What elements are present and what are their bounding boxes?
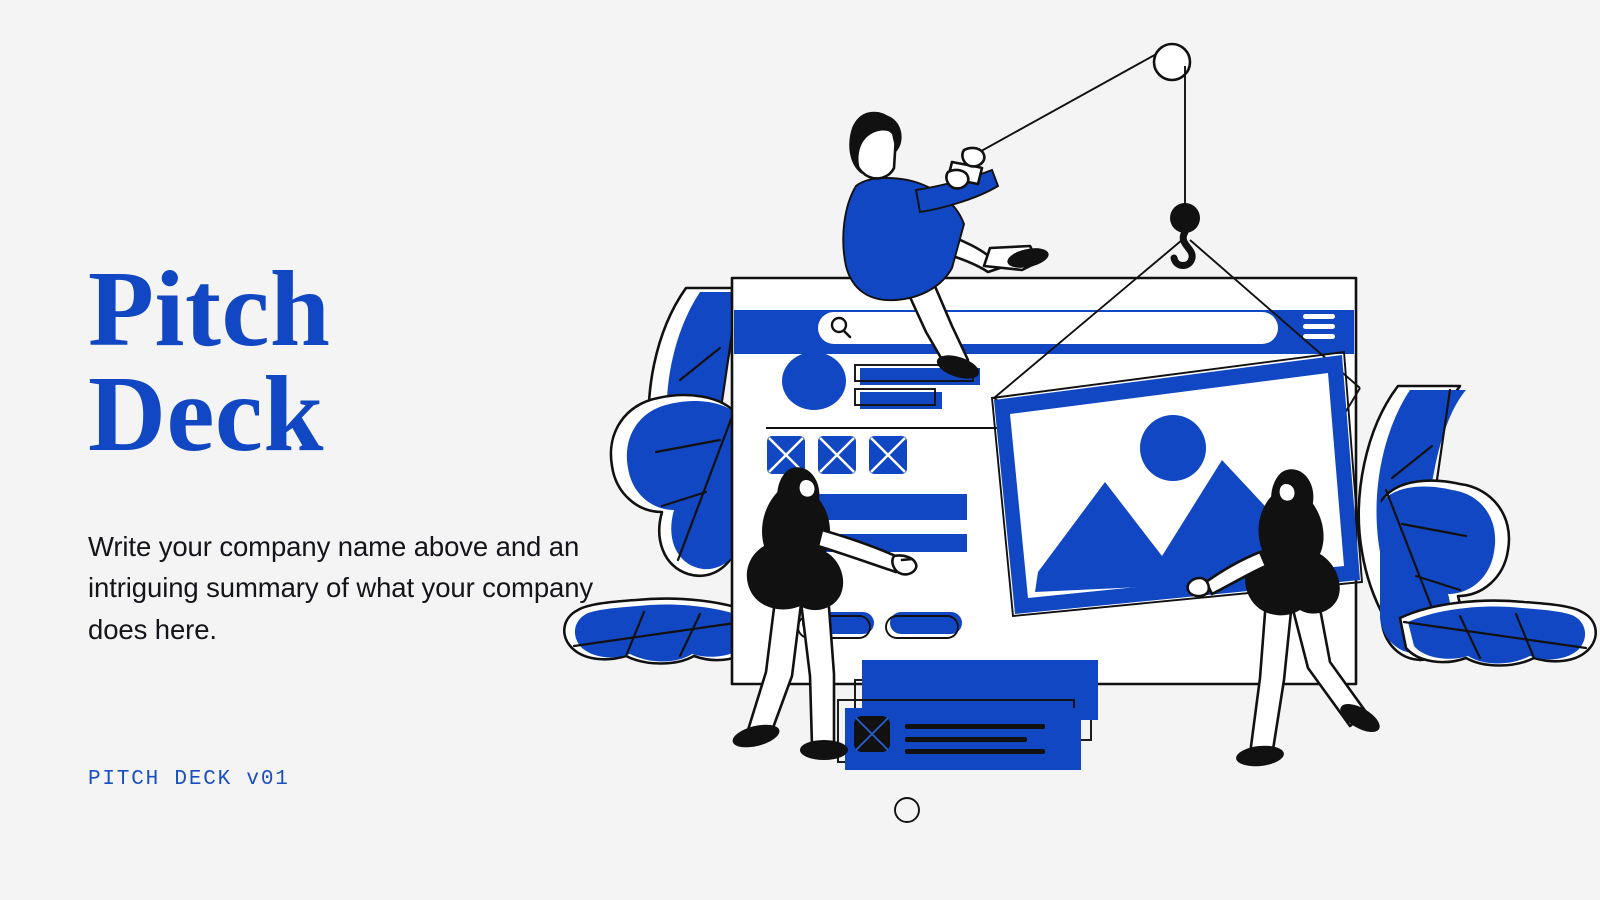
image-placeholder-x-icon — [869, 436, 907, 474]
image-placeholder-x-icon — [854, 716, 890, 752]
pitch-deck-slide: Pitch Deck Write your company name above… — [0, 0, 1600, 900]
text-column: Pitch Deck Write your company name above… — [88, 258, 618, 651]
thumbnail-tiles[interactable] — [767, 436, 907, 474]
avatar — [782, 352, 846, 410]
card-text-lines — [905, 724, 1045, 754]
crane-hook — [1170, 203, 1200, 233]
stacked-cards[interactable] — [838, 660, 1098, 770]
subtitle-text: Write your company name above and an int… — [88, 526, 598, 651]
search-input[interactable] — [818, 312, 1278, 344]
plant-right — [1359, 386, 1596, 666]
slide-progress-dot — [895, 798, 919, 822]
footer-label: PITCH DECK v01 — [88, 768, 290, 791]
plant-left — [564, 288, 760, 664]
image-placeholder-x-icon — [818, 436, 856, 474]
illustration: .bl { fill: #1247c4; } .wh { fill: #ffff… — [560, 0, 1600, 900]
page-title: Pitch Deck — [88, 258, 618, 468]
hamburger-menu-icon[interactable] — [1303, 314, 1335, 339]
